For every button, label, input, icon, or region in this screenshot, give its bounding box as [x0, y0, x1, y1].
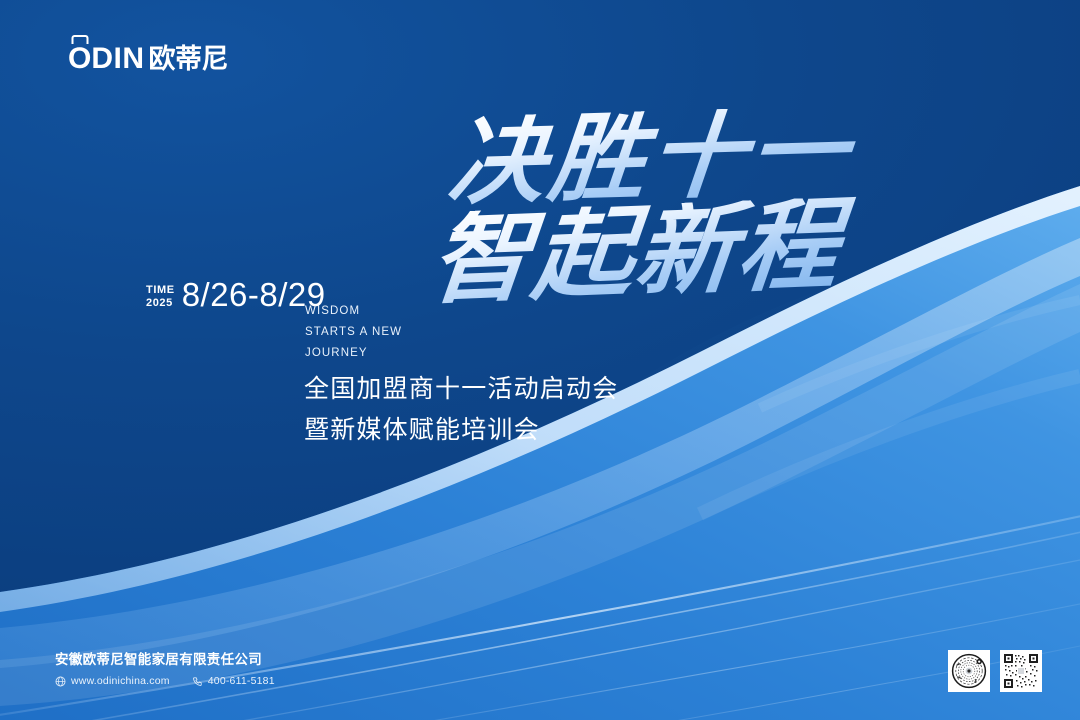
event-poster: O DIN 欧蒂尼 决胜十一 智起新程 TIME 2025 8/26-8/29 …: [0, 0, 1080, 720]
event-date: TIME 2025 8/26-8/29: [146, 278, 326, 311]
phone-contact[interactable]: 400-611-5181: [192, 675, 275, 687]
logo-latin-text: DIN: [91, 44, 144, 74]
phone-icon: [192, 676, 203, 687]
square-qr-graphic: [1003, 653, 1039, 689]
subtitle-line-1: 全国加盟商十一活动启动会: [304, 369, 618, 410]
event-subtitle: 全国加盟商十一活动启动会 暨新媒体赋能培训会: [304, 369, 618, 450]
english-tagline: WISDOM STARTS A NEW JOURNEY: [305, 301, 402, 364]
square-qr-code[interactable]: [1000, 650, 1042, 692]
main-title: 决胜十一 智起新程: [432, 110, 912, 340]
wechat-round-qr-code[interactable]: [948, 650, 990, 692]
subtitle-line-2: 暨新媒体赋能培训会: [304, 410, 618, 451]
website-contact[interactable]: www.odinichina.com: [55, 675, 170, 687]
company-name: 安徽欧蒂尼智能家居有限责任公司: [55, 648, 297, 668]
logo-chinese-text: 欧蒂尼: [149, 46, 229, 73]
logo-macron-accent: [71, 35, 88, 44]
website-text: www.odinichina.com: [71, 675, 170, 687]
brand-logo: O DIN 欧蒂尼: [68, 44, 228, 74]
round-qr-graphic: [951, 653, 987, 689]
globe-icon: [55, 676, 66, 687]
footer-info: 安徽欧蒂尼智能家居有限责任公司 www.odinichina.com 400-6…: [55, 648, 297, 687]
date-label-year: 2025: [146, 297, 175, 309]
phone-text: 400-611-5181: [208, 675, 275, 687]
qr-code-group: [948, 650, 1042, 692]
tagline-line-1: WISDOM: [305, 301, 402, 322]
tagline-line-2: STARTS A NEW: [305, 322, 402, 343]
date-label: TIME 2025: [146, 280, 175, 309]
date-label-time: TIME: [146, 284, 175, 296]
tagline-line-3: JOURNEY: [305, 343, 402, 364]
contact-row: www.odinichina.com 400-611-5181: [55, 675, 297, 687]
title-line-2: 智起新程: [426, 194, 918, 307]
logo-o-letter: O: [68, 44, 91, 74]
logo-o-glyph: O: [68, 42, 91, 75]
